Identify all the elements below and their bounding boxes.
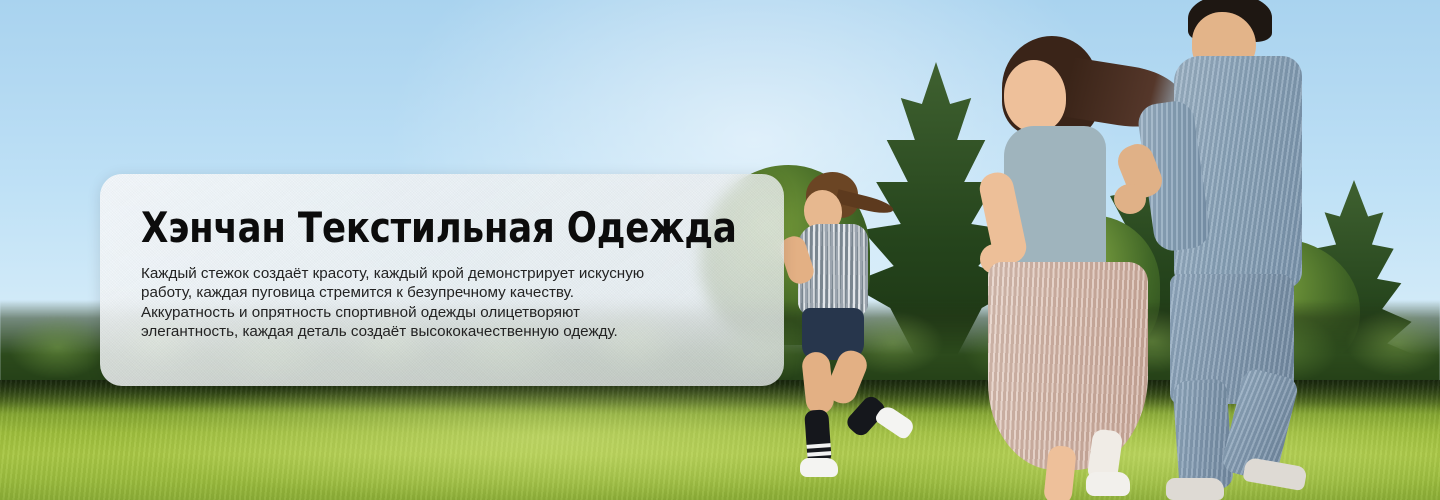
woman-shoe [1086, 472, 1130, 496]
girl-shoe-front [800, 458, 838, 477]
person-girl-running [792, 172, 932, 492]
woman-pleated-skirt [988, 262, 1148, 470]
promo-description-line: Аккуратность и опрятность спортивной оде… [141, 303, 761, 322]
man-leg-front-texture [1172, 378, 1234, 491]
woman-skirt-pleat-texture [988, 262, 1148, 470]
man-leg-front [1172, 378, 1234, 491]
promo-description-line: работу, каждая пуговица стремится к безу… [141, 283, 761, 302]
woman-head [1004, 60, 1066, 132]
promo-description-line: Каждый стежок создаёт красоту, каждый кр… [141, 264, 761, 283]
woman-leg [1043, 445, 1077, 500]
man-hand [1114, 184, 1146, 214]
page-title: Хэнчан Текстильная Одежда [141, 207, 745, 249]
hero-banner: Хэнчан Текстильная Одежда Каждый стежок … [0, 0, 1440, 500]
man-shoe-front [1166, 478, 1224, 500]
promo-description-line: элегантность, каждая деталь создаёт высо… [141, 322, 761, 341]
girl-sock-front [804, 409, 832, 465]
promo-text-card: Хэнчан Текстильная Одежда Каждый стежок … [100, 174, 784, 386]
man-shoe-back [1242, 457, 1307, 491]
person-man-walking [1140, 0, 1410, 500]
girl-shoe-back [874, 403, 917, 441]
promo-description: Каждый стежок создаёт красоту, каждый кр… [141, 264, 761, 342]
